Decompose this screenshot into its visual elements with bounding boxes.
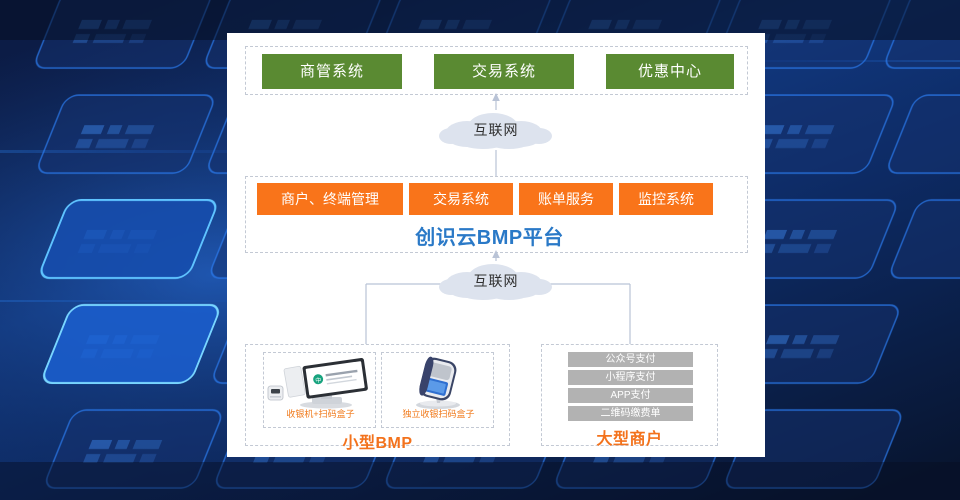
connector-lines bbox=[227, 33, 765, 457]
internet-cloud-bottom: 互联网 bbox=[435, 261, 557, 301]
internet-cloud-top: 互联网 bbox=[435, 110, 557, 150]
cloud-bottom-label: 互联网 bbox=[435, 261, 557, 301]
cloud-top-label: 互联网 bbox=[435, 110, 557, 150]
diagram-panel: 商管系统 交易系统 优惠中心 互联网 商户、终端管理 交易系统 账单服务 监控系… bbox=[227, 33, 765, 457]
